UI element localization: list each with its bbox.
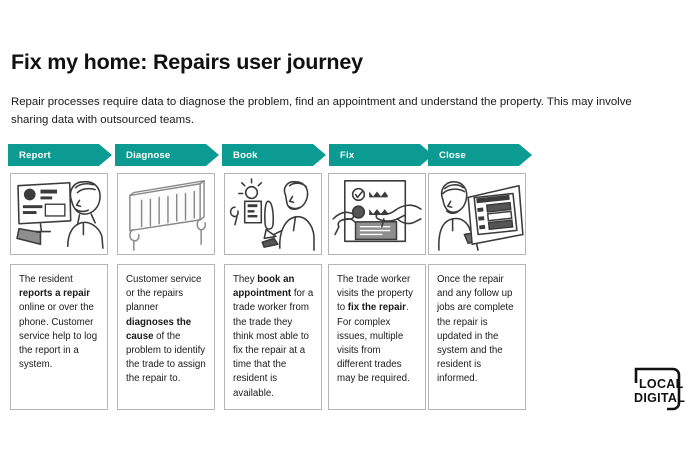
- illustration-panel-book: [224, 173, 322, 255]
- person-viewing-completed-checklist-icon: [429, 174, 525, 254]
- card-text: Customer service or the repairs planner …: [126, 274, 206, 384]
- card-text: Once the repair and any follow up jobs a…: [437, 274, 513, 384]
- stage-chevron-report[interactable]: Report: [8, 144, 112, 166]
- hands-with-checklist-tablet-icon: [329, 174, 425, 254]
- illustration-panel-close: [428, 173, 526, 255]
- illustration-panel-report: [10, 173, 108, 255]
- page-title: Fix my home: Repairs user journey: [11, 50, 363, 75]
- stage-description-card-fix: The trade worker visits the property to …: [328, 264, 426, 410]
- stage-chevron-fix[interactable]: Fix: [329, 144, 433, 166]
- person-booking-appointment-icon: [225, 174, 321, 254]
- page-subtitle: Repair processes require data to diagnos…: [11, 94, 666, 129]
- logo-line-1: LOCAL: [639, 377, 684, 391]
- illustration-panel-fix: [328, 173, 426, 255]
- stage-chevron-diagnose[interactable]: Diagnose: [115, 144, 219, 166]
- stage-description-card-book: They book an appointment for a trade wor…: [224, 264, 322, 410]
- stage-chevron-close[interactable]: Close: [428, 144, 532, 166]
- person-at-computer-monitor-icon: [11, 174, 107, 254]
- radiator-icon: [118, 174, 214, 254]
- stage-chevron-book[interactable]: Book: [222, 144, 326, 166]
- journey-map-page: Fix my home: Repairs user journey Repair…: [0, 0, 694, 470]
- logo-line-2: DIGITAL: [634, 391, 685, 405]
- stage-description-card-report: The resident reports a repair online or …: [10, 264, 108, 410]
- card-text: They book an appointment for a trade wor…: [233, 274, 313, 399]
- stage-description-card-close: Once the repair and any follow up jobs a…: [428, 264, 526, 410]
- stage-label: Fix: [340, 150, 354, 161]
- card-text: The resident reports a repair online or …: [19, 274, 97, 370]
- local-digital-logo: LOCAL DIGITAL: [627, 360, 687, 412]
- illustration-panel-diagnose: [117, 173, 215, 255]
- stage-description-card-diagnose: Customer service or the repairs planner …: [117, 264, 215, 410]
- stage-label: Book: [233, 150, 258, 161]
- stage-label: Close: [439, 150, 466, 161]
- stage-label: Diagnose: [126, 150, 170, 161]
- card-text: The trade worker visits the property to …: [337, 274, 413, 384]
- local-digital-logo-icon: LOCAL DIGITAL: [627, 360, 687, 412]
- stage-chevron-bar: Report Diagnose Book Fix Close: [8, 144, 688, 166]
- stage-label: Report: [19, 150, 51, 161]
